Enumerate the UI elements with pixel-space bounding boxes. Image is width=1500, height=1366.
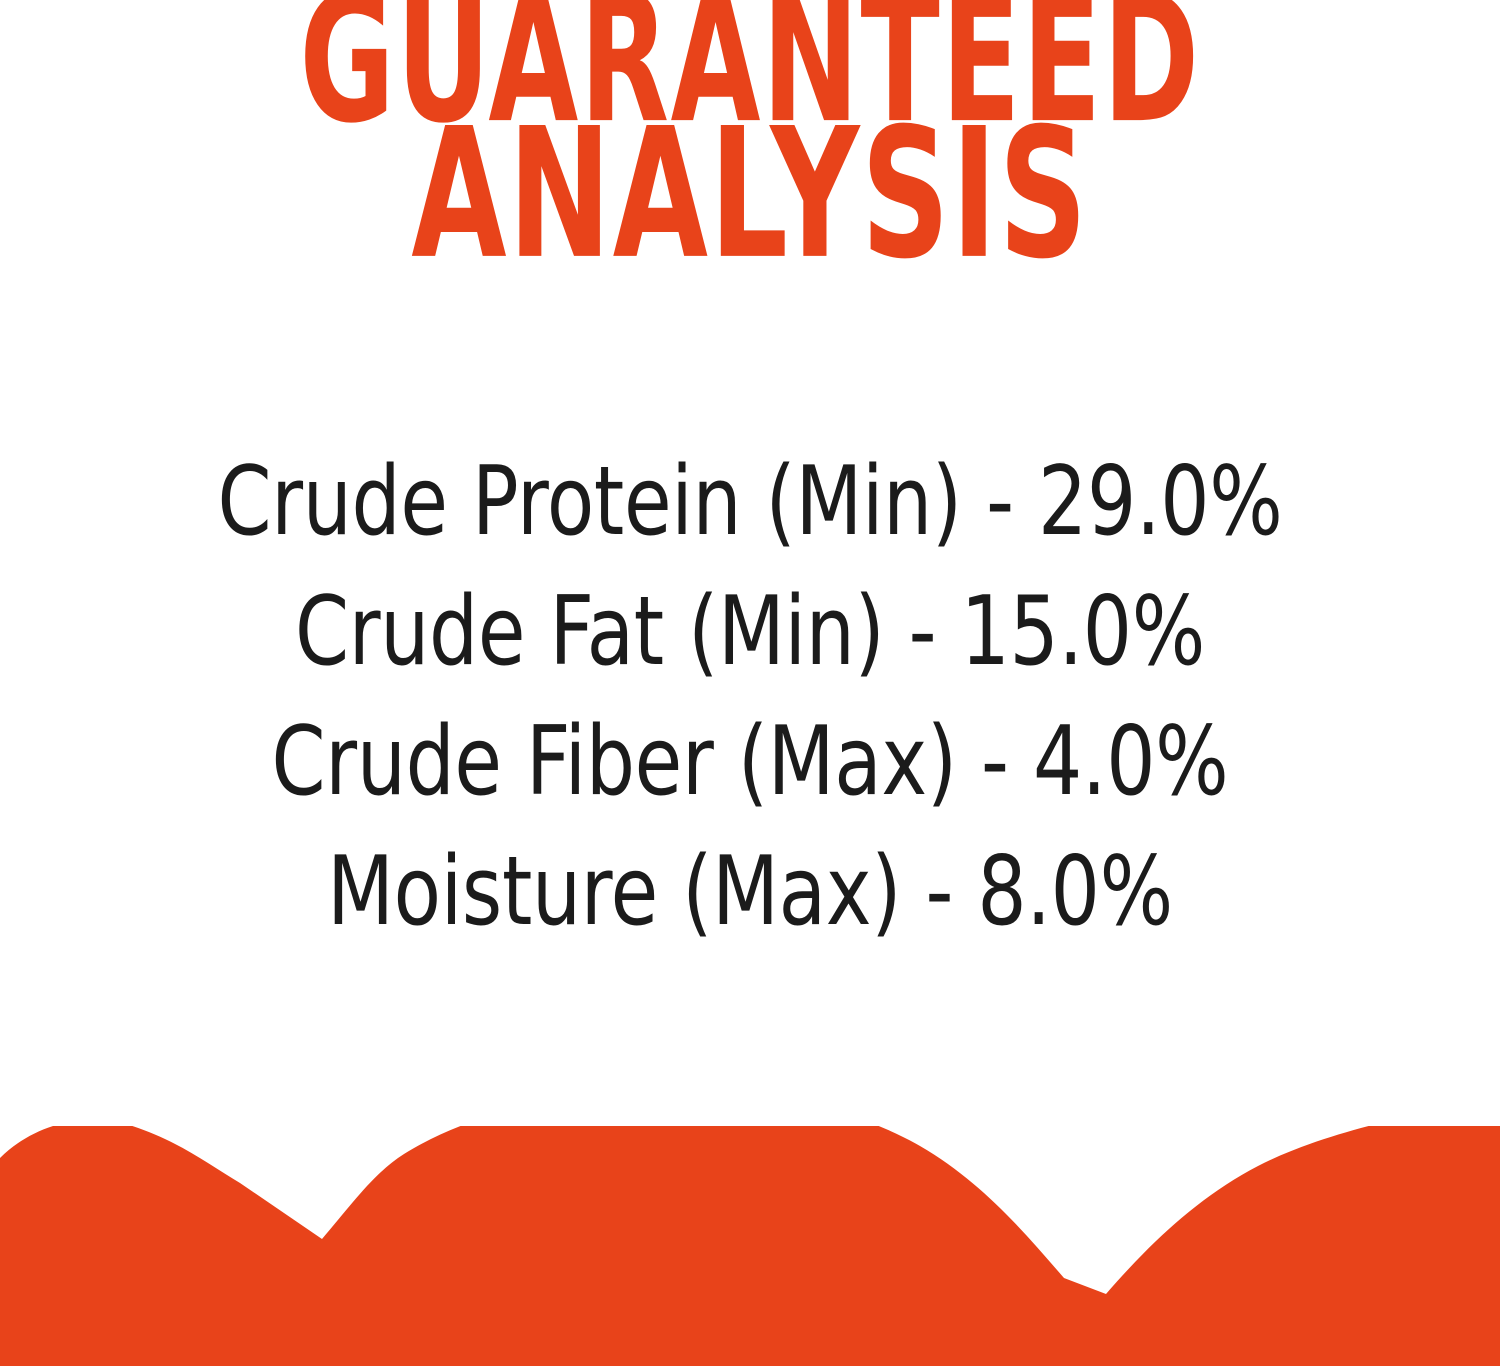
- guaranteed-analysis-list: Crude Protein (Min) - 29.0% Crude Fat (M…: [0, 437, 1500, 957]
- title-line-analysis: ANALYSIS: [225, 109, 1275, 281]
- scalloped-cloud-border-icon: [0, 1126, 1500, 1366]
- analysis-row-crude-protein: Crude Protein (Min) - 29.0%: [139, 437, 1362, 567]
- analysis-row-crude-fiber: Crude Fiber (Max) - 4.0%: [139, 697, 1362, 827]
- analysis-row-moisture: Moisture (Max) - 8.0%: [139, 827, 1362, 957]
- analysis-row-crude-fat: Crude Fat (Min) - 15.0%: [139, 567, 1362, 697]
- page-title: GUARANTEED ANALYSIS: [0, 0, 1500, 278]
- guaranteed-analysis-panel: GUARANTEED ANALYSIS Crude Protein (Min) …: [0, 0, 1500, 1366]
